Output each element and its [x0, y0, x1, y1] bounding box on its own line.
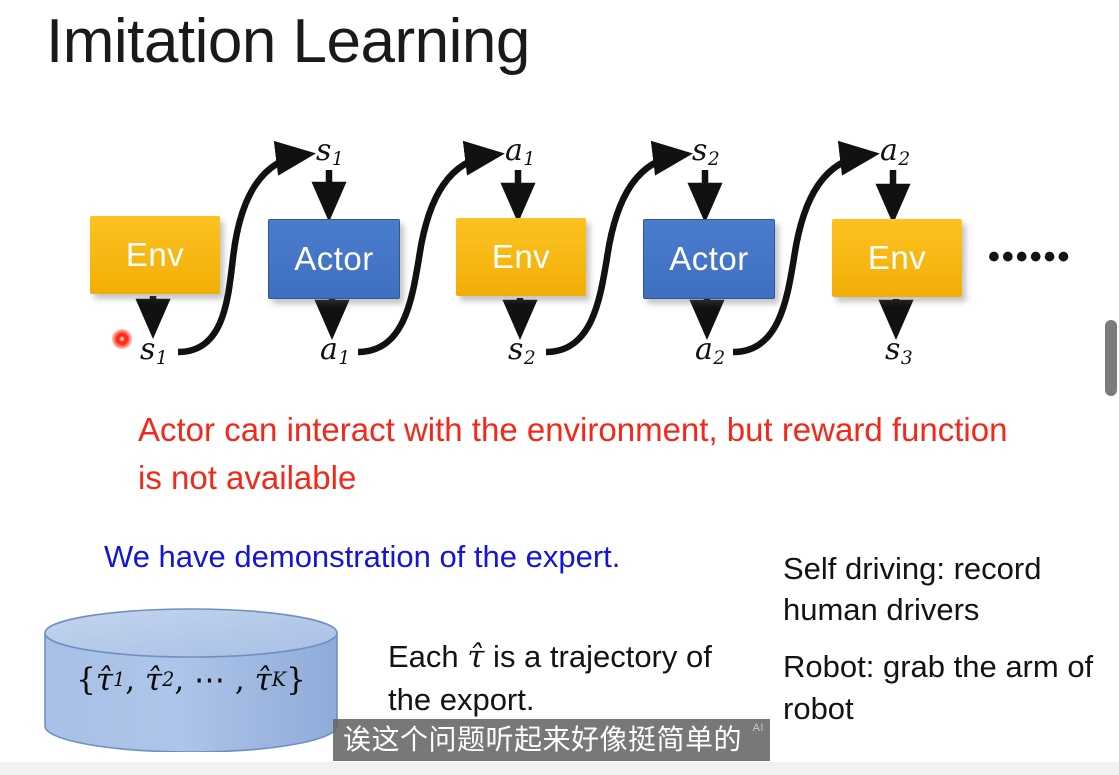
actor-box-2[interactable]: Actor — [643, 219, 775, 299]
action-label-a2-top: a2 — [880, 133, 910, 170]
env-box-1[interactable]: Env — [90, 216, 220, 294]
application-examples-note: Self driving: record human drivers Robot… — [783, 548, 1103, 729]
expert-demonstration-note: We have demonstration of the expert. — [104, 539, 620, 575]
bottom-edge-strip — [0, 762, 1119, 775]
scrollbar-thumb[interactable] — [1105, 320, 1117, 396]
ai-watermark: AI — [753, 722, 764, 734]
continuation-ellipsis: •••••• — [988, 240, 1071, 274]
state-label-s2-bottom: s2 — [508, 332, 536, 369]
mid-note-line1-post: is a trajectory — [484, 639, 677, 674]
state-label-s2-top: s2 — [692, 133, 720, 170]
state-label-s1-bottom: s1 — [140, 332, 168, 369]
action-label-a1-bottom: a1 — [320, 332, 350, 369]
demonstration-database-cylinder: {τ̂1, τ̂2, ⋯ , τ̂K} — [41, 607, 341, 752]
action-label-a1-top: a1 — [505, 133, 535, 170]
reward-unavailable-note: Actor can interact with the environment,… — [138, 406, 1018, 502]
subtitle-text: 诶这个问题听起来好像挺简单的 — [343, 726, 742, 754]
env-box-3[interactable]: Env — [832, 219, 962, 297]
tau-hat-symbol: τ̂ — [467, 639, 484, 675]
slide-canvas: Imitation Learning — [0, 0, 1119, 775]
env-box-2[interactable]: Env — [456, 218, 586, 296]
interaction-diagram: Env Actor Env Actor Env s1 a1 s2 a2 s1 a… — [0, 0, 1119, 400]
diagram-arrows — [0, 0, 1119, 400]
laser-pointer-dot — [112, 329, 132, 349]
example-self-driving: Self driving: record human drivers — [783, 548, 1103, 630]
cylinder-shape — [41, 607, 341, 752]
trajectory-definition-note: Each τ̂ is a trajectory of the export. — [388, 636, 748, 722]
scrollbar-track[interactable] — [1105, 0, 1119, 775]
actor-box-1[interactable]: Actor — [268, 219, 400, 299]
example-robot: Robot: grab the arm of robot — [783, 646, 1103, 728]
mid-note-line1-pre: Each — [388, 639, 467, 674]
action-label-a2-bottom: a2 — [695, 332, 725, 369]
state-label-s1-top: s1 — [316, 133, 344, 170]
state-label-s3-bottom: s3 — [885, 332, 913, 369]
subtitle-overlay: 诶这个问题听起来好像挺简单的 AI — [333, 719, 770, 761]
